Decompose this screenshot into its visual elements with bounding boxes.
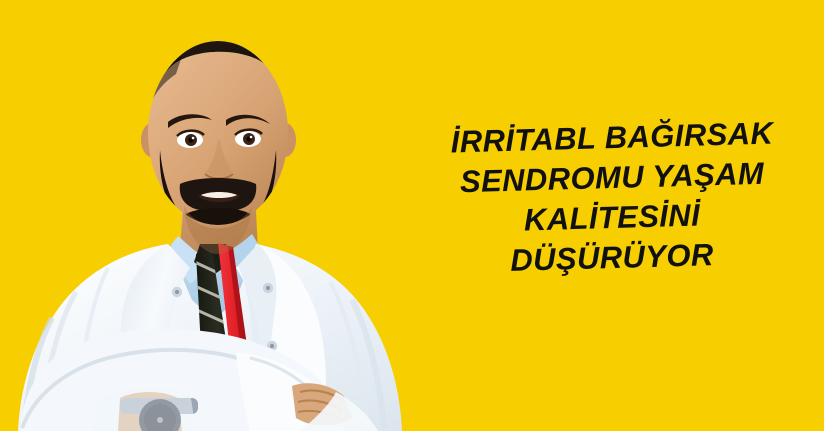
head	[141, 8, 296, 254]
doctor-photo: MEDICAL MEDICAL	[0, 0, 420, 431]
health-news-banner: MEDICAL MEDICAL	[0, 0, 824, 431]
headline: İRRİTABL BAĞIRSAK SENDROMU YAŞAM KALİTES…	[420, 118, 804, 278]
